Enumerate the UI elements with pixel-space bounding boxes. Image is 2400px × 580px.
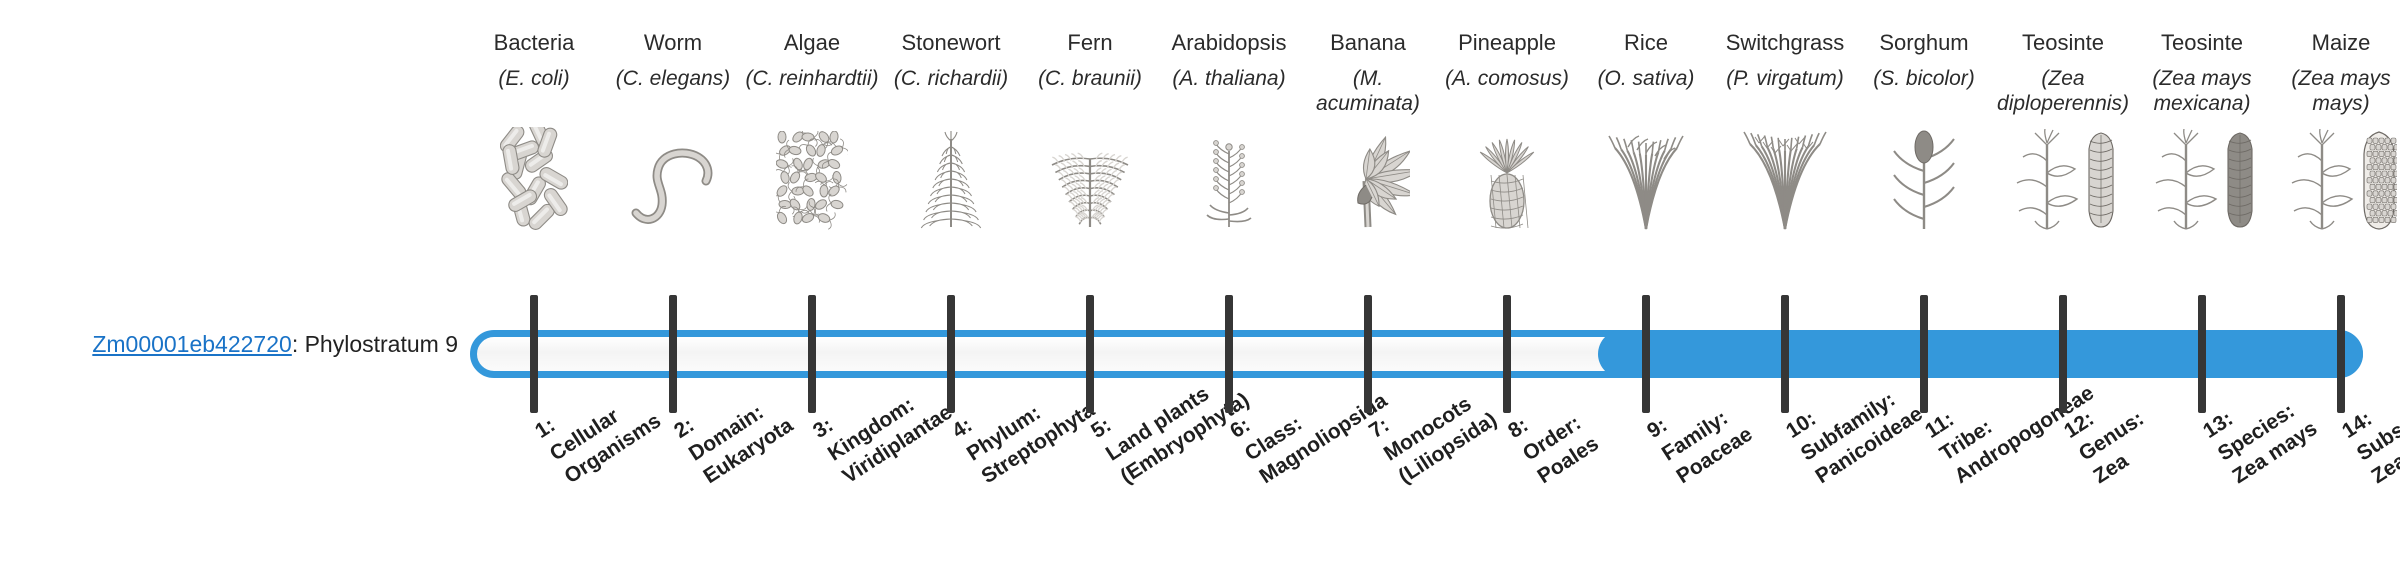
pineapple-illustration <box>1438 126 1577 231</box>
timeline-tick-14[interactable] <box>2337 295 2345 413</box>
timeline-tick-5[interactable] <box>1086 295 1094 413</box>
species-column-worm-2: Worm(C. elegans) <box>604 30 743 231</box>
species-column-rice-9: Rice(O. sativa) <box>1577 30 1716 231</box>
species-scientific-name: (A. comosus) <box>1438 60 1577 122</box>
species-scientific-name: (Zea mays mexicana) <box>2133 60 2272 122</box>
species-scientific-name: (S. bicolor) <box>1855 60 1994 122</box>
arabidopsis-illustration <box>1160 126 1299 231</box>
species-common-name: Banana <box>1299 30 1438 60</box>
species-column-switchgrass-10: Switchgrass(P. virgatum) <box>1716 30 1855 231</box>
timeline-tick-4[interactable] <box>947 295 955 413</box>
species-common-name: Algae <box>743 30 882 60</box>
gene-id-link[interactable]: Zm00001eb422720 <box>92 331 292 357</box>
species-common-name: Stonewort <box>882 30 1021 60</box>
species-common-name: Teosinte <box>2133 30 2272 60</box>
timeline-tick-1[interactable] <box>530 295 538 413</box>
species-column-teosinte-12: Teosinte(Zea diploperennis) <box>1994 30 2133 231</box>
nematode-worm-illustration <box>604 126 743 231</box>
phylostratigraphy-figure: Zm00001eb422720: Phylostratum 9 Bacteria… <box>0 0 2400 580</box>
species-column-pineapple-8: Pineapple(A. comosus) <box>1438 30 1577 231</box>
gene-label-separator: : <box>292 331 305 357</box>
teosinte-diploperennis-illustration <box>1994 126 2133 231</box>
species-column-bacteria-1: Bacteria(E. coli) <box>465 30 604 231</box>
timeline-tick-3[interactable] <box>808 295 816 413</box>
timeline-tick-11[interactable] <box>1920 295 1928 413</box>
maize-illustration <box>2272 126 2400 231</box>
species-column-fern-5: Fern(C. braunii) <box>1021 30 1160 231</box>
species-column-arabidopsis-6: Arabidopsis(A. thaliana) <box>1160 30 1299 231</box>
species-common-name: Arabidopsis <box>1160 30 1299 60</box>
species-scientific-name: (Zea diploperennis) <box>1994 60 2133 122</box>
species-common-name: Rice <box>1577 30 1716 60</box>
species-scientific-name: (M. acuminata) <box>1299 60 1438 122</box>
species-column-sorghum-11: Sorghum(S. bicolor) <box>1855 30 1994 231</box>
teosinte-mexicana-illustration <box>2133 126 2272 231</box>
species-common-name: Pineapple <box>1438 30 1577 60</box>
species-common-name: Teosinte <box>1994 30 2133 60</box>
species-scientific-name: (C. richardii) <box>882 60 1021 122</box>
species-scientific-name: (P. virgatum) <box>1716 60 1855 122</box>
species-common-name: Maize <box>2272 30 2400 60</box>
species-scientific-name: (E. coli) <box>465 60 604 122</box>
species-scientific-name: (C. elegans) <box>604 60 743 122</box>
species-common-name: Sorghum <box>1855 30 1994 60</box>
timeline-tick-7[interactable] <box>1364 295 1372 413</box>
green-algae-illustration <box>743 126 882 231</box>
gene-phylostratum-label: Zm00001eb422720: Phylostratum 9 <box>38 330 458 358</box>
sorghum-illustration <box>1855 126 1994 231</box>
species-scientific-name: (C. braunii) <box>1021 60 1160 122</box>
species-common-name: Fern <box>1021 30 1160 60</box>
phylostratum-value: Phylostratum 9 <box>305 331 458 357</box>
rice-plant-illustration <box>1577 126 1716 231</box>
banana-plant-illustration <box>1299 126 1438 231</box>
species-scientific-name: (C. reinhardtii) <box>743 60 882 122</box>
species-column-banana-7: Banana(M. acuminata) <box>1299 30 1438 231</box>
species-scientific-name: (O. sativa) <box>1577 60 1716 122</box>
stonewort-illustration <box>882 126 1021 231</box>
timeline-tick-10[interactable] <box>1781 295 1789 413</box>
species-scientific-name: (A. thaliana) <box>1160 60 1299 122</box>
species-scientific-name: (Zea mays mays) <box>2272 60 2400 122</box>
bacteria-illustration <box>465 126 604 231</box>
species-common-name: Switchgrass <box>1716 30 1855 60</box>
species-column-teosinte-13: Teosinte(Zea mays mexicana) <box>2133 30 2272 231</box>
species-common-name: Bacteria <box>465 30 604 60</box>
species-column-stonewort-4: Stonewort(C. richardii) <box>882 30 1021 231</box>
species-common-name: Worm <box>604 30 743 60</box>
timeline-tick-2[interactable] <box>669 295 677 413</box>
timeline-tick-6[interactable] <box>1225 295 1233 413</box>
species-column-maize-14: Maize(Zea mays mays) <box>2272 30 2400 231</box>
timeline-tick-8[interactable] <box>1503 295 1511 413</box>
timeline-tick-13[interactable] <box>2198 295 2206 413</box>
species-column-algae-3: Algae(C. reinhardtii) <box>743 30 882 231</box>
timeline-tick-9[interactable] <box>1642 295 1650 413</box>
switchgrass-illustration <box>1716 126 1855 231</box>
timeline-tick-12[interactable] <box>2059 295 2067 413</box>
fern-illustration <box>1021 126 1160 231</box>
